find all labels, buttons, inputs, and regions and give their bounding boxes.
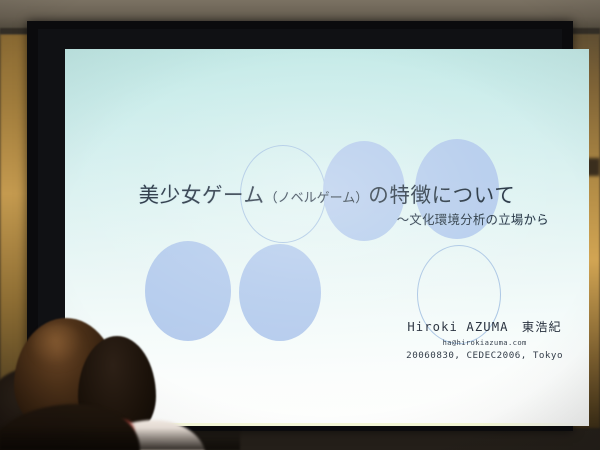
slide-title: 美少女ゲーム（ノベルゲーム）の特徴について	[65, 185, 589, 207]
projector-hotspot	[65, 49, 589, 426]
projected-slide: 美少女ゲーム（ノベルゲーム）の特徴について 〜文化環境分析の立場から Hirok…	[65, 49, 589, 426]
slide-title-tail: の特徴について	[368, 183, 515, 207]
slide-credit-block: Hiroki AZUMA 東浩紀 ha@hirokiazuma.com 2006…	[406, 317, 563, 361]
decorative-circle-filled-bottom-left	[145, 241, 231, 341]
slide-title-lead: 美少女ゲーム	[139, 183, 265, 207]
author-email: ha@hirokiazuma.com	[406, 338, 563, 347]
author-name: Hiroki AZUMA 東浩紀	[406, 317, 563, 335]
decorative-circle-filled-bottom-center	[239, 244, 321, 341]
slide-vignette	[65, 49, 589, 426]
projection-screen-frame: 美少女ゲーム（ノベルゲーム）の特徴について 〜文化環境分析の立場から Hirok…	[27, 21, 573, 431]
slide-title-block: 美少女ゲーム（ノベルゲーム）の特徴について 〜文化環境分析の立場から	[65, 185, 589, 228]
slide-title-parenthetical: （ノベルゲーム）	[265, 191, 369, 206]
screen-bottom-light-edge	[65, 423, 589, 426]
lecture-room-photo: 美少女ゲーム（ノベルゲーム）の特徴について 〜文化環境分析の立場から Hirok…	[0, 0, 600, 450]
event-meta: 20060830, CEDEC2006, Tokyo	[406, 350, 563, 361]
slide-subtitle: 〜文化環境分析の立場から	[65, 210, 571, 228]
